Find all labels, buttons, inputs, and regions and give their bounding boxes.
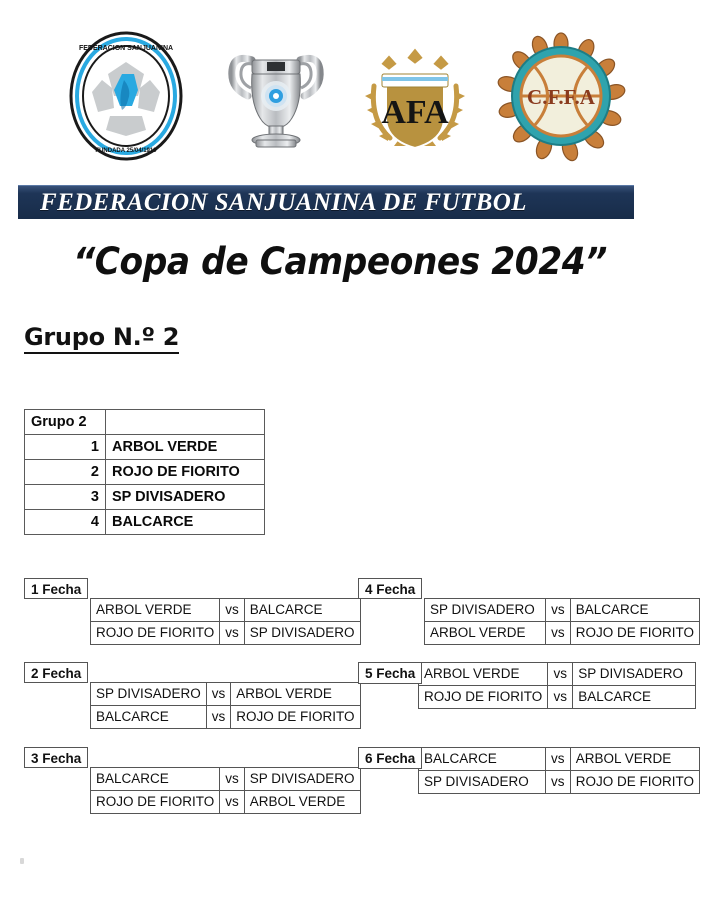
- fecha-label: 1 Fecha: [24, 578, 88, 599]
- fixture-block-fecha-6: 6 Fecha BALCARCE vs ARBOL VERDE SP DIVIS…: [358, 747, 700, 799]
- away-team: ROJO DE FIORITO: [570, 622, 699, 645]
- champions-trophy-logo: [222, 30, 330, 162]
- away-team: ARBOL VERDE: [570, 748, 699, 771]
- home-team: ROJO DE FIORITO: [419, 686, 548, 709]
- match-row: ARBOL VERDE vs SP DIVISADERO: [419, 663, 696, 686]
- away-team: BALCARCE: [244, 599, 360, 622]
- home-team: BALCARCE: [91, 706, 207, 729]
- home-team: SP DIVISADERO: [425, 599, 546, 622]
- match-row: ARBOL VERDE vs BALCARCE: [91, 599, 361, 622]
- away-team: ARBOL VERDE: [244, 791, 360, 814]
- cffa-logo-text: C.F.F.A: [527, 85, 596, 109]
- group-position: 4: [25, 510, 106, 535]
- match-row: BALCARCE vs SP DIVISADERO: [91, 768, 361, 791]
- home-team: SP DIVISADERO: [419, 771, 546, 794]
- home-team: BALCARCE: [91, 768, 220, 791]
- home-team: ARBOL VERDE: [91, 599, 220, 622]
- home-team: ROJO DE FIORITO: [91, 791, 220, 814]
- group-position: 1: [25, 435, 106, 460]
- match-table: BALCARCE vs SP DIVISADERO ROJO DE FIORIT…: [90, 767, 361, 814]
- match-row: ROJO DE FIORITO vs ARBOL VERDE: [91, 791, 361, 814]
- svg-text:FEDERACION SANJUANINA: FEDERACION SANJUANINA: [79, 45, 173, 52]
- page-title: “Copa de Campeones 2024”: [24, 240, 656, 283]
- match-table: ARBOL VERDE vs BALCARCE ROJO DE FIORITO …: [90, 598, 361, 645]
- group-team-name: SP DIVISADERO: [106, 485, 265, 510]
- banner-title: FEDERACION SANJUANINA DE FUTBOL: [18, 189, 527, 217]
- match-row: SP DIVISADERO vs ROJO DE FIORITO: [419, 771, 700, 794]
- fixture-block-fecha-5: 5 Fecha ARBOL VERDE vs SP DIVISADERO ROJ…: [358, 662, 700, 714]
- away-team: BALCARCE: [573, 686, 696, 709]
- group-table-header-label: Grupo 2: [25, 410, 106, 435]
- match-row: SP DIVISADERO vs ARBOL VERDE: [91, 683, 361, 706]
- away-team: BALCARCE: [570, 599, 699, 622]
- group-team-name: ROJO DE FIORITO: [106, 460, 265, 485]
- match-table: SP DIVISADERO vs BALCARCE ARBOL VERDE vs…: [424, 598, 700, 645]
- table-row: 1 ARBOL VERDE: [25, 435, 265, 460]
- home-team: ARBOL VERDE: [419, 663, 548, 686]
- fecha-label: 6 Fecha: [358, 747, 422, 769]
- fixture-block-fecha-3: 3 Fecha BALCARCE vs SP DIVISADERO ROJO D…: [24, 747, 354, 817]
- match-table: SP DIVISADERO vs ARBOL VERDE BALCARCE vs…: [90, 682, 361, 729]
- fecha-label: 5 Fecha: [358, 662, 422, 684]
- fixture-block-fecha-4: 4 Fecha SP DIVISADERO vs BALCARCE ARBOL …: [358, 578, 700, 648]
- cffa-logo: C.F.F.A: [496, 30, 626, 162]
- group-team-name: BALCARCE: [106, 510, 265, 535]
- home-team: BALCARCE: [419, 748, 546, 771]
- away-team: ROJO DE FIORITO: [231, 706, 360, 729]
- match-row: BALCARCE vs ROJO DE FIORITO: [91, 706, 361, 729]
- fixture-block-fecha-2: 2 Fecha SP DIVISADERO vs ARBOL VERDE BAL…: [24, 662, 354, 732]
- vs-label: vs: [220, 791, 245, 814]
- vs-label: vs: [546, 599, 571, 622]
- group-position: 2: [25, 460, 106, 485]
- fecha-label: 3 Fecha: [24, 747, 88, 768]
- home-team: SP DIVISADERO: [91, 683, 207, 706]
- fecha-label: 2 Fecha: [24, 662, 88, 683]
- svg-text:FUNDADA 25/04/1919: FUNDADA 25/04/1919: [95, 148, 157, 154]
- fecha-label: 4 Fecha: [358, 578, 422, 599]
- afa-logo-text: AFA: [381, 94, 449, 131]
- away-team: SP DIVISADERO: [573, 663, 696, 686]
- match-row: BALCARCE vs ARBOL VERDE: [419, 748, 700, 771]
- match-row: ARBOL VERDE vs ROJO DE FIORITO: [425, 622, 700, 645]
- group-standings-table: Grupo 2 1 ARBOL VERDE 2 ROJO DE FIORITO …: [24, 409, 265, 535]
- away-team: ROJO DE FIORITO: [570, 771, 699, 794]
- match-row: ROJO DE FIORITO vs BALCARCE: [419, 686, 696, 709]
- vs-label: vs: [220, 622, 245, 645]
- vs-label: vs: [546, 622, 571, 645]
- group-heading: Grupo N.º 2: [24, 323, 179, 354]
- vs-label: vs: [206, 683, 231, 706]
- away-team: SP DIVISADERO: [244, 768, 360, 791]
- match-row: SP DIVISADERO vs BALCARCE: [425, 599, 700, 622]
- vs-label: vs: [548, 663, 573, 686]
- match-row: ROJO DE FIORITO vs SP DIVISADERO: [91, 622, 361, 645]
- table-row: 3 SP DIVISADERO: [25, 485, 265, 510]
- fixture-block-fecha-1: 1 Fecha ARBOL VERDE vs BALCARCE ROJO DE …: [24, 578, 354, 648]
- table-row: 4 BALCARCE: [25, 510, 265, 535]
- table-row: 2 ROJO DE FIORITO: [25, 460, 265, 485]
- vs-label: vs: [545, 748, 570, 771]
- group-table-header-blank: [106, 410, 265, 435]
- match-table: ARBOL VERDE vs SP DIVISADERO ROJO DE FIO…: [418, 662, 696, 709]
- vs-label: vs: [220, 768, 245, 791]
- vs-label: vs: [220, 599, 245, 622]
- federation-banner: FEDERACION SANJUANINA DE FUTBOL: [18, 185, 634, 219]
- fsf-crest-logo: FEDERACION SANJUANINA FUNDADA 25/04/1919: [62, 30, 190, 162]
- home-team: ROJO DE FIORITO: [91, 622, 220, 645]
- home-team: ARBOL VERDE: [425, 622, 546, 645]
- afa-logo: AFA: [352, 30, 478, 162]
- scan-artifact: [20, 858, 24, 864]
- away-team: SP DIVISADERO: [244, 622, 360, 645]
- group-team-name: ARBOL VERDE: [106, 435, 265, 460]
- away-team: ARBOL VERDE: [231, 683, 360, 706]
- vs-label: vs: [545, 771, 570, 794]
- table-row: Grupo 2: [25, 410, 265, 435]
- group-position: 3: [25, 485, 106, 510]
- logo-strip: FEDERACION SANJUANINA FUNDADA 25/04/1919: [0, 30, 720, 170]
- vs-label: vs: [206, 706, 231, 729]
- vs-label: vs: [548, 686, 573, 709]
- match-table: BALCARCE vs ARBOL VERDE SP DIVISADERO vs…: [418, 747, 700, 794]
